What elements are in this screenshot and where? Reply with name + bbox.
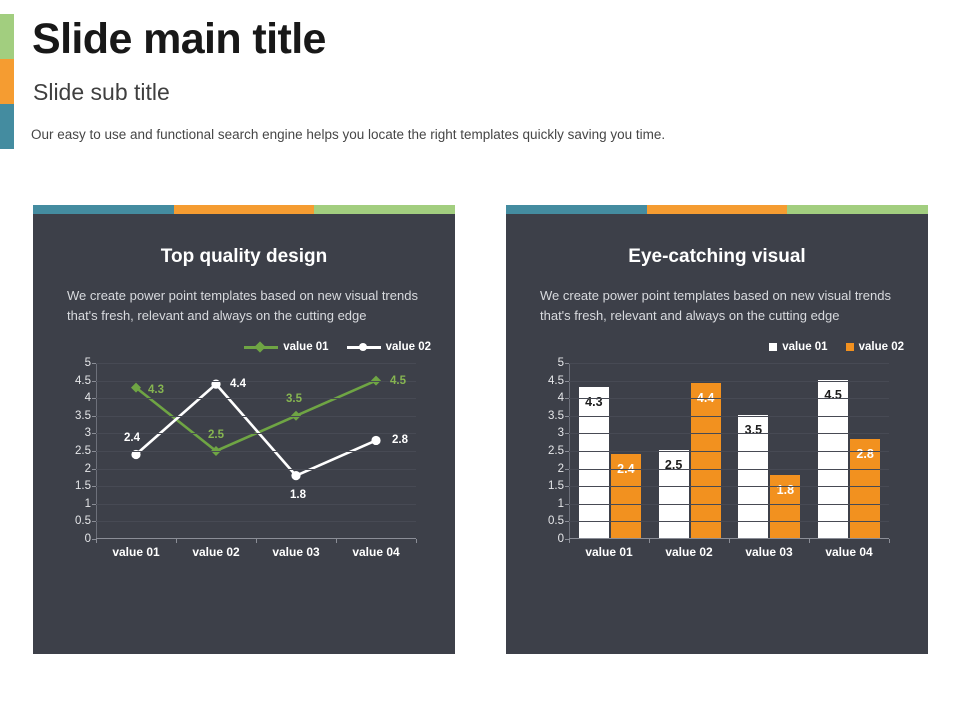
card-stripe-left: [33, 205, 455, 214]
legend-label-value-02: value 02: [386, 341, 431, 353]
bar-value-label: 4.5: [824, 388, 841, 402]
x-axis-tick-mark: [96, 539, 97, 543]
gridline: [569, 433, 889, 434]
bar-value-label: 2.5: [665, 458, 682, 472]
card-eye-catching-visual: Eye-catching visual We create power poin…: [506, 205, 928, 654]
circle-marker-icon: [359, 343, 367, 351]
x-axis-category-label: value 04: [336, 545, 416, 559]
y-axis-tick-label: 1: [85, 498, 91, 510]
card-stripe-segment-orange: [647, 205, 788, 214]
circle-marker-icon: [291, 471, 300, 480]
x-axis-category-label: value 03: [729, 545, 809, 559]
data-point-label: 2.8: [392, 434, 408, 446]
bar-chart-plot-area: 4.32.42.54.43.51.84.52.8 54.543.532.521.…: [569, 363, 889, 539]
y-axis-tick-label: 1.5: [548, 480, 564, 492]
y-axis-tick-label: 3.5: [548, 410, 564, 422]
diamond-marker-icon: [255, 341, 266, 352]
y-axis-tick-label: 3.5: [75, 410, 91, 422]
bar[interactable]: 4.3: [579, 387, 609, 538]
card-description-left: We create power point templates based on…: [67, 286, 421, 325]
legend-item-value-02[interactable]: value 02: [347, 341, 431, 353]
legend-swatch-orange: [846, 343, 854, 351]
gridline: [569, 381, 889, 382]
y-axis-tick-mark: [565, 486, 569, 487]
gridline: [96, 486, 416, 487]
gridline: [96, 398, 416, 399]
y-axis-tick-label: 4: [558, 392, 564, 404]
line-chart-plot-area: 54.543.532.521.510.504.32.53.54.52.44.41…: [96, 363, 416, 539]
x-axis-category-label: value 04: [809, 545, 889, 559]
x-axis-tick-mark: [809, 539, 810, 543]
legend-key-line-green: [244, 342, 278, 352]
line-chart: value 01 value 02 54.543.532.521.510.504…: [33, 341, 455, 591]
bar[interactable]: 2.8: [850, 439, 880, 538]
y-axis-tick-mark: [92, 363, 96, 364]
y-axis-tick-mark: [92, 433, 96, 434]
y-axis-tick-mark: [92, 451, 96, 452]
bar[interactable]: 2.5: [659, 450, 689, 538]
data-point-label: 4.5: [390, 375, 406, 387]
card-title-right: Eye-catching visual: [506, 246, 928, 268]
y-axis-tick-mark: [565, 363, 569, 364]
gridline: [569, 363, 889, 364]
card-stripe-segment-teal: [506, 205, 647, 214]
x-axis-category-label: value 01: [96, 545, 176, 559]
gridline: [569, 504, 889, 505]
accent-segment-green: [0, 14, 14, 59]
y-axis-tick-mark: [565, 381, 569, 382]
page-title: Slide main title: [32, 16, 326, 63]
x-axis-category-label: value 02: [649, 545, 729, 559]
slide-canvas: Slide main title Slide sub title Our eas…: [0, 0, 960, 720]
gridline: [96, 469, 416, 470]
accent-segment-orange: [0, 59, 14, 104]
y-axis-tick-label: 0: [85, 533, 91, 545]
bar[interactable]: 1.8: [770, 475, 800, 538]
x-axis-tick-mark: [569, 539, 570, 543]
y-axis-tick-mark: [565, 433, 569, 434]
bar[interactable]: 2.4: [611, 454, 641, 538]
data-point-label: 3.5: [286, 393, 302, 405]
gridline: [96, 504, 416, 505]
legend-swatch-white: [769, 343, 777, 351]
y-axis-tick-mark: [92, 521, 96, 522]
y-axis-tick-mark: [92, 504, 96, 505]
x-axis-category-label: value 03: [256, 545, 336, 559]
gridline: [569, 451, 889, 452]
bar-value-label: 1.8: [777, 483, 794, 497]
gridline: [96, 521, 416, 522]
y-axis-tick-mark: [565, 521, 569, 522]
data-point-label: 2.4: [124, 432, 140, 444]
x-axis-category-label: value 02: [176, 545, 256, 559]
y-axis-tick-label: 1: [558, 498, 564, 510]
gridline: [569, 416, 889, 417]
gridline: [96, 451, 416, 452]
card-title-left: Top quality design: [33, 246, 455, 268]
page-subtitle: Slide sub title: [33, 79, 170, 106]
bar-chart: value 01 value 02 4.32.42.54.43.51.84.52…: [506, 341, 928, 591]
header-accent-bar: [0, 14, 14, 149]
data-point-label: 4.4: [230, 378, 246, 390]
card-stripe-segment-orange: [174, 205, 315, 214]
gridline: [569, 469, 889, 470]
x-axis-tick-mark: [416, 539, 417, 543]
y-axis-tick-label: 2: [85, 463, 91, 475]
y-axis-tick-label: 1.5: [75, 480, 91, 492]
legend-key-line-white: [347, 342, 381, 352]
circle-marker-icon: [371, 436, 380, 445]
bar-chart-legend: value 01 value 02: [769, 341, 904, 353]
data-point-label: 1.8: [290, 489, 306, 501]
gridline: [569, 486, 889, 487]
y-axis-tick-label: 4: [85, 392, 91, 404]
y-axis-tick-mark: [565, 398, 569, 399]
bar-value-label: 4.3: [585, 395, 602, 409]
y-axis-tick-label: 3: [558, 427, 564, 439]
gridline: [96, 416, 416, 417]
x-axis-tick-mark: [889, 539, 890, 543]
y-axis-tick-mark: [565, 416, 569, 417]
x-axis-tick-mark: [176, 539, 177, 543]
card-stripe-segment-teal: [33, 205, 174, 214]
gridline: [96, 363, 416, 364]
y-axis-tick-label: 2.5: [548, 445, 564, 457]
y-axis-tick-label: 3: [85, 427, 91, 439]
line-chart-legend: value 01 value 02: [244, 341, 431, 353]
x-axis-tick-mark: [729, 539, 730, 543]
y-axis-tick-mark: [92, 469, 96, 470]
line-chart-x-labels: value 01value 02value 03value 04: [96, 545, 416, 559]
y-axis-tick-label: 2.5: [75, 445, 91, 457]
legend-item-value-02[interactable]: value 02: [846, 341, 904, 353]
bar-value-label: 3.5: [745, 423, 762, 437]
legend-label-value-02: value 02: [859, 341, 904, 353]
bar[interactable]: 4.4: [691, 383, 721, 538]
x-axis-tick-mark: [336, 539, 337, 543]
y-axis-tick-label: 5: [85, 357, 91, 369]
card-stripe-segment-green: [314, 205, 455, 214]
card-description-right: We create power point templates based on…: [540, 286, 894, 325]
data-point-label: 2.5: [208, 429, 224, 441]
y-axis-tick-mark: [92, 486, 96, 487]
y-axis-tick-label: 5: [558, 357, 564, 369]
y-axis-tick-label: 4.5: [548, 375, 564, 387]
gridline: [569, 521, 889, 522]
accent-segment-teal: [0, 104, 14, 149]
data-point-label: 4.3: [148, 384, 164, 396]
card-stripe-right: [506, 205, 928, 214]
legend-label-value-01: value 01: [782, 341, 827, 353]
legend-label-value-01: value 01: [283, 341, 328, 353]
y-axis-tick-mark: [92, 416, 96, 417]
y-axis-tick-label: 0.5: [548, 515, 564, 527]
y-axis-tick-mark: [565, 504, 569, 505]
bar[interactable]: 4.5: [818, 380, 848, 538]
lead-paragraph: Our easy to use and functional search en…: [31, 127, 665, 142]
y-axis-tick-label: 2: [558, 463, 564, 475]
y-axis-tick-mark: [565, 469, 569, 470]
y-axis-tick-mark: [92, 381, 96, 382]
x-axis-tick-mark: [256, 539, 257, 543]
y-axis-tick-label: 0: [558, 533, 564, 545]
x-axis-tick-mark: [649, 539, 650, 543]
x-axis-category-label: value 01: [569, 545, 649, 559]
card-stripe-segment-green: [787, 205, 928, 214]
legend-item-value-01[interactable]: value 01: [244, 341, 328, 353]
bar-chart-x-labels: value 01value 02value 03value 04: [569, 545, 889, 559]
card-top-quality-design: Top quality design We create power point…: [33, 205, 455, 654]
legend-item-value-01[interactable]: value 01: [769, 341, 827, 353]
bar-value-label: 2.8: [856, 447, 873, 461]
y-axis-tick-label: 0.5: [75, 515, 91, 527]
gridline: [96, 433, 416, 434]
y-axis-tick-mark: [565, 451, 569, 452]
gridline: [96, 381, 416, 382]
gridline: [569, 398, 889, 399]
y-axis-tick-mark: [92, 398, 96, 399]
y-axis-tick-label: 4.5: [75, 375, 91, 387]
